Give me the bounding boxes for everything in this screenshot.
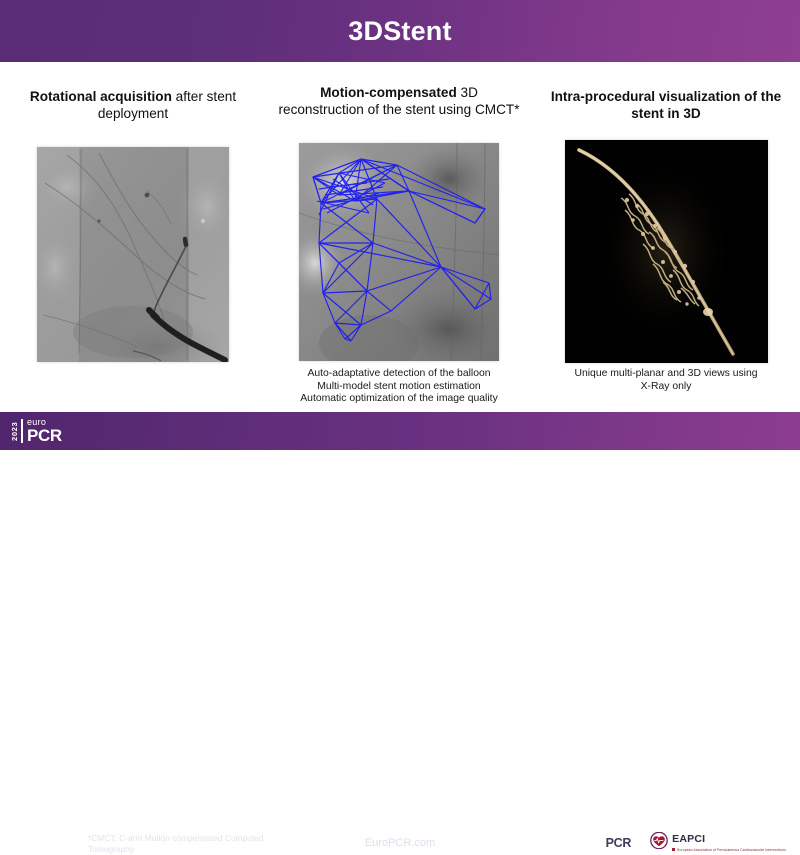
- cmct-reconstruction-image: [299, 143, 499, 361]
- caption-line: Auto-adaptative detection of the balloon: [266, 368, 532, 381]
- eapci-text-block: EAPCI European Association of Percutaneo…: [672, 834, 786, 852]
- eapci-badge-label: EAPCI: [672, 834, 786, 845]
- europcr-logo[interactable]: 2023 euro PCR: [8, 418, 62, 444]
- column-1-title-bold: Rotational acquisition: [30, 89, 172, 104]
- column-3-caption: Unique multi-planar and 3D views using X…: [532, 368, 800, 393]
- eapci-subtitle-row: European Association of Percutaneous Car…: [672, 847, 786, 852]
- caption-line: Multi-model stent motion estimation: [266, 381, 532, 394]
- content-columns: Rotational acquisition after stent deplo…: [0, 62, 800, 412]
- caption-line: Unique multi-planar and 3D views using: [532, 368, 800, 381]
- caption-line: X-Ray only: [532, 381, 800, 394]
- page-header: 3DStent: [0, 0, 800, 62]
- cmct-reconstruction-svg: [299, 143, 499, 361]
- logo-year: 2023: [8, 418, 20, 444]
- logo-divider: [21, 419, 23, 443]
- fluoroscopy-svg: [37, 147, 229, 362]
- heart-icon: [650, 832, 668, 854]
- eapci-square-icon: [672, 848, 675, 851]
- column-2-title-bold: Motion-compensated: [320, 85, 457, 100]
- logo-pcr-text: PCR: [27, 427, 62, 444]
- footer-badges: PCR EAPCI European Association of Percut…: [599, 831, 792, 855]
- column-intraprocedural-visualization: Intra-procedural visualization of the st…: [532, 62, 800, 412]
- column-3-title-bold: Intra-procedural visualization of the st…: [551, 89, 781, 121]
- fluoroscopy-image: [37, 147, 229, 362]
- column-rotational-acquisition: Rotational acquisition after stent deplo…: [0, 62, 266, 412]
- eapci-subtitle: European Association of Percutaneous Car…: [677, 849, 786, 852]
- column-cmct-reconstruction: Motion-compensated 3D reconstruction of …: [266, 62, 532, 412]
- column-2-title: Motion-compensated 3D reconstruction of …: [266, 84, 532, 118]
- column-2-figure-wrap: [266, 143, 532, 361]
- pcr-badge[interactable]: PCR: [599, 831, 639, 855]
- page-title: 3DStent: [348, 16, 451, 47]
- caption-line: Automatic optimization of the image qual…: [266, 393, 532, 406]
- column-1-figure-wrap: [0, 147, 266, 362]
- pcr-badge-label: PCR: [606, 836, 632, 850]
- stent-3d-svg: [565, 140, 768, 363]
- logo-wordmark: euro PCR: [27, 418, 62, 444]
- eapci-badge[interactable]: EAPCI European Association of Percutaneo…: [644, 831, 792, 855]
- column-2-caption: Auto-adaptative detection of the balloon…: [266, 368, 532, 406]
- column-1-title: Rotational acquisition after stent deplo…: [0, 88, 266, 122]
- column-3-title: Intra-procedural visualization of the st…: [532, 88, 800, 122]
- page-footer: 2023 euro PCR *CMCT: C-arm Motion compen…: [0, 412, 800, 450]
- column-3-figure-wrap: [532, 140, 800, 363]
- stent-3d-image: [565, 140, 768, 363]
